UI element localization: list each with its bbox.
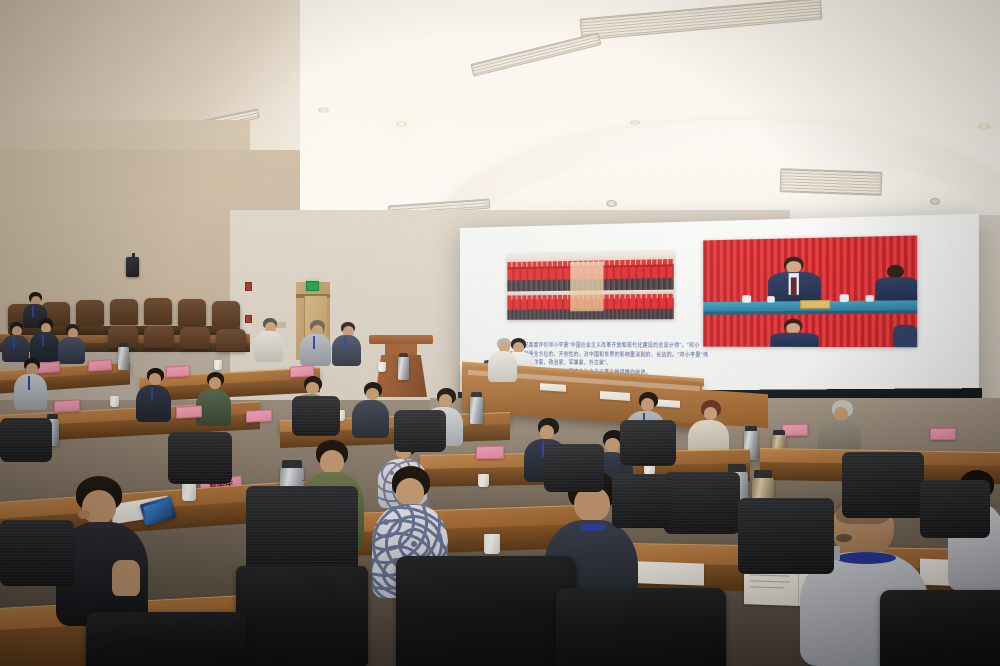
chair-right-3[interactable] bbox=[612, 474, 672, 528]
attendee-cb-1 bbox=[332, 322, 362, 366]
smoke-detector-1 bbox=[606, 200, 617, 207]
thermos-bl-1 bbox=[118, 346, 129, 370]
theatre-chair-5[interactable] bbox=[144, 298, 172, 325]
attendee-bl-1 bbox=[2, 322, 30, 362]
theatre-chair-3[interactable] bbox=[76, 300, 104, 326]
chair-fg-1-base[interactable] bbox=[236, 566, 368, 666]
attendee-m-5 bbox=[352, 382, 390, 438]
chair-fg-6[interactable] bbox=[738, 498, 834, 574]
theatre-chair-11[interactable] bbox=[216, 329, 246, 351]
cup-ml-2 bbox=[378, 362, 386, 372]
chair-mid-2[interactable] bbox=[394, 410, 446, 452]
cup-m-1 bbox=[110, 396, 119, 407]
placard-m-1 bbox=[54, 399, 80, 412]
cup-c-1 bbox=[478, 474, 489, 487]
placard-c-1 bbox=[476, 446, 504, 459]
chair-fg-7[interactable] bbox=[0, 520, 74, 586]
chair-fg-4[interactable] bbox=[880, 590, 1000, 666]
theatre-chair-4[interactable] bbox=[110, 299, 138, 325]
cup-fg-1 bbox=[182, 484, 196, 501]
ceiling-downlight-12 bbox=[630, 120, 640, 125]
placard-r-2 bbox=[930, 428, 956, 440]
placard-r-1 bbox=[782, 424, 808, 436]
ceiling-downlight-1 bbox=[396, 121, 407, 127]
attendee-m-2 bbox=[136, 368, 172, 422]
ceiling-downlight-5 bbox=[978, 123, 990, 130]
speaker-left-bracket bbox=[132, 253, 135, 258]
chair-fg-3[interactable] bbox=[556, 588, 726, 666]
fire-alarm-icon-2 bbox=[245, 315, 252, 323]
chair-mid-5[interactable] bbox=[0, 418, 52, 462]
chair-mid-6[interactable] bbox=[544, 444, 604, 492]
thermos-ml-1 bbox=[398, 356, 409, 380]
attendee-m-3 bbox=[196, 372, 232, 426]
attendee-m-1 bbox=[14, 358, 48, 410]
chair-mid-1[interactable] bbox=[620, 420, 676, 466]
hand-holding-phone bbox=[112, 560, 140, 596]
chair-fg-5[interactable] bbox=[86, 612, 246, 666]
attendee-ml-1 bbox=[254, 318, 284, 362]
theatre-chair-9[interactable] bbox=[144, 326, 174, 348]
eyeglasses-icon bbox=[836, 534, 852, 542]
ceiling-downlight-8 bbox=[318, 107, 329, 113]
conference-hall-photo: 习近平总书记高度评价邓小平是"中国社会主义改革开放和现代化建设的总设计师"，"邓… bbox=[0, 0, 1000, 666]
attendee-bl-2 bbox=[30, 318, 60, 362]
chair-right-4[interactable] bbox=[920, 480, 990, 538]
slide-photo-leader bbox=[703, 236, 917, 348]
speaker-left-icon bbox=[126, 257, 139, 277]
slide-photo-hall bbox=[507, 252, 673, 320]
cup-ml-1 bbox=[214, 360, 222, 370]
fire-alarm-icon-1 bbox=[245, 282, 252, 291]
chair-right-2[interactable] bbox=[664, 472, 740, 534]
cup-fg-2 bbox=[484, 534, 500, 554]
chair-right-1[interactable] bbox=[842, 452, 924, 518]
podium-top bbox=[369, 335, 433, 344]
exit-sign-icon bbox=[306, 281, 319, 291]
attendee-cb-2 bbox=[488, 338, 518, 382]
theatre-chair-10[interactable] bbox=[180, 327, 210, 349]
placard-m-2 bbox=[176, 405, 202, 418]
placard-m-3 bbox=[246, 409, 272, 422]
thermos-m-1 bbox=[470, 396, 483, 424]
attendee-ml-2 bbox=[300, 320, 332, 366]
placard-bl-2 bbox=[88, 359, 112, 372]
smoke-detector-2 bbox=[930, 198, 940, 205]
chair-mid-3[interactable] bbox=[168, 432, 232, 484]
attendee-bl-3 bbox=[58, 324, 86, 364]
slide-photo-hall-center-column bbox=[570, 261, 603, 311]
ceiling-vent-6 bbox=[780, 168, 883, 196]
theatre-chair-7[interactable] bbox=[212, 301, 240, 328]
chair-mid-4[interactable] bbox=[292, 396, 340, 436]
chair-fg-2[interactable] bbox=[396, 556, 576, 666]
theatre-chair-6[interactable] bbox=[178, 299, 206, 326]
